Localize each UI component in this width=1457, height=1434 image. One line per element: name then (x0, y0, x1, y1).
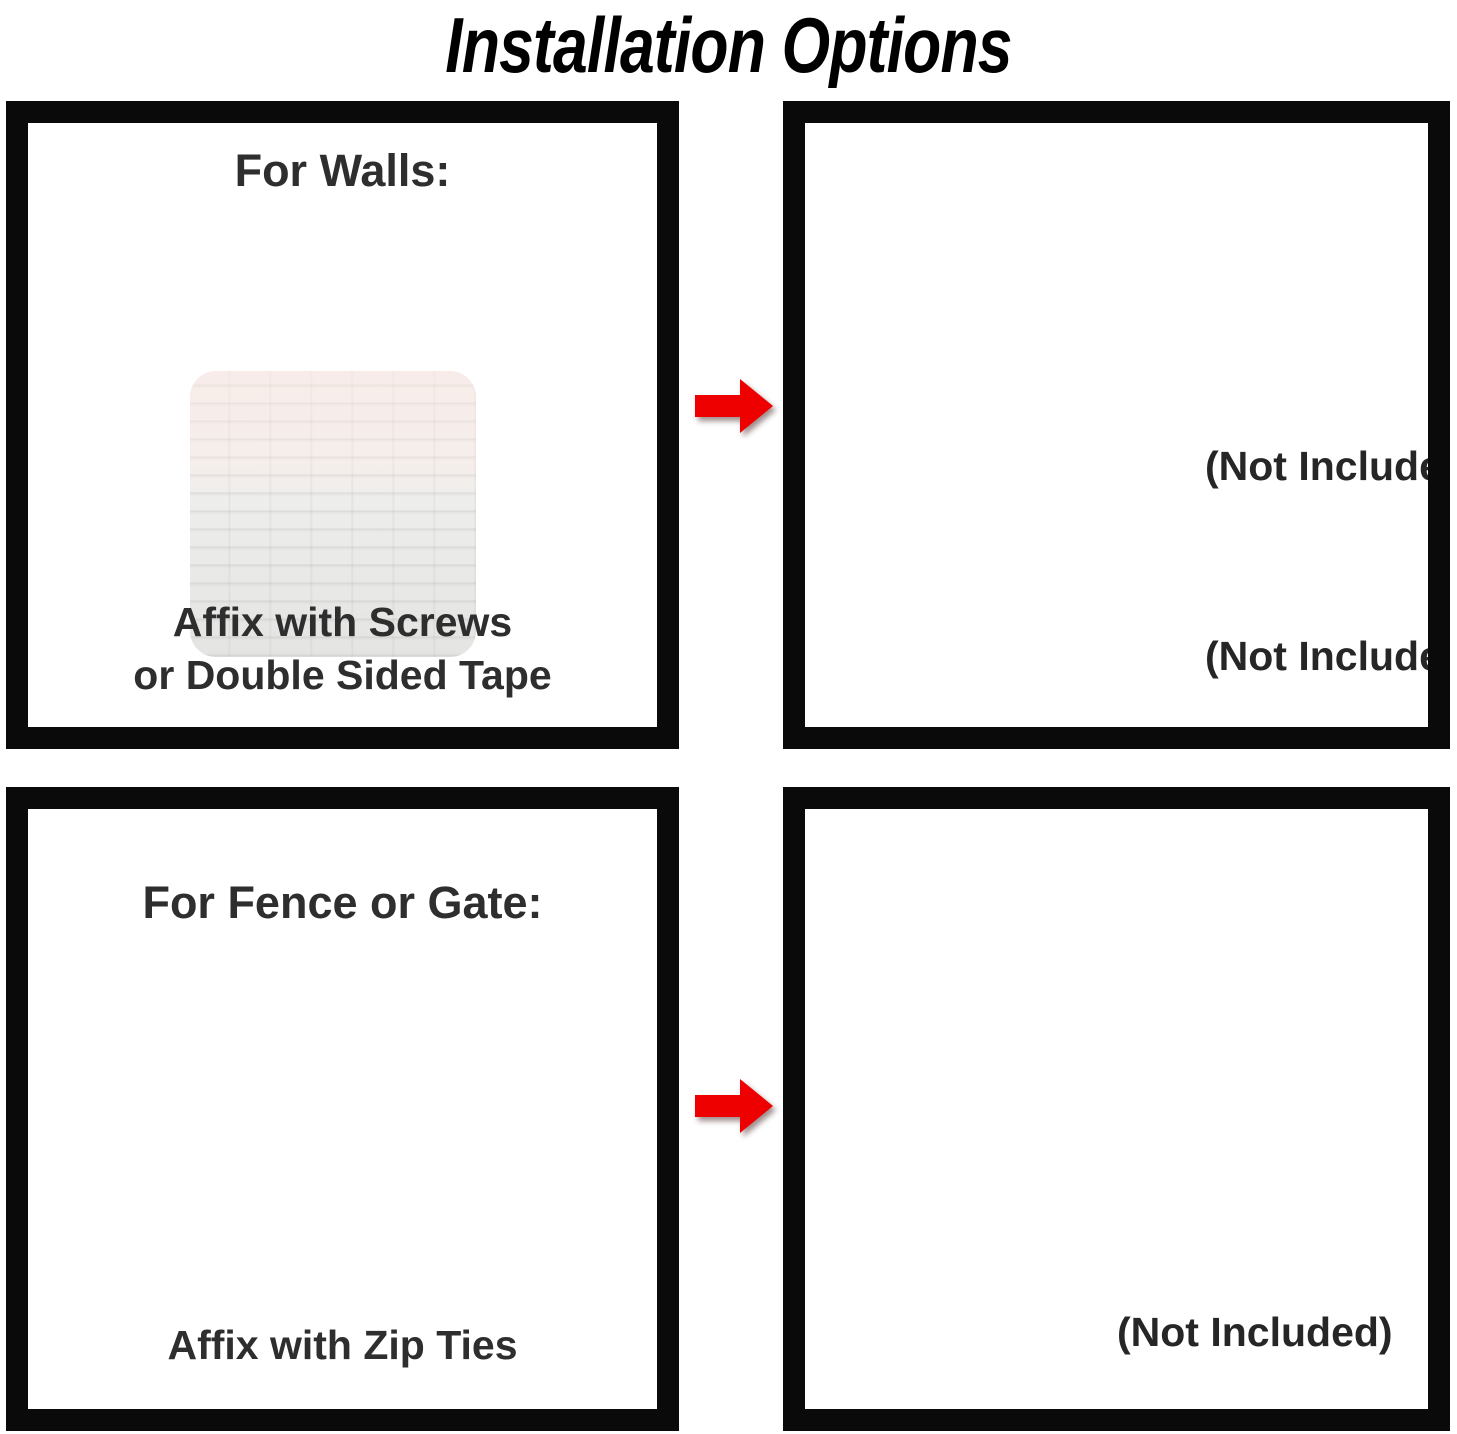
panel-fence-hardware: (Not Included) (783, 787, 1450, 1431)
for-fence-heading: For Fence or Gate: (28, 877, 657, 929)
panel-for-walls: For Walls: Affix with Screws or Double S… (6, 101, 679, 749)
page-title: Installation Options (146, 2, 1312, 89)
for-fence-caption-line-1: Affix with Zip Ties (28, 1319, 657, 1371)
arrow-right-icon (693, 375, 775, 437)
tape-not-included-label: (Not Included) (1205, 443, 1428, 490)
panel-wall-hardware: (Not Included) (783, 101, 1450, 749)
panel-for-fence-or-gate: For Fence or Gate: Affix with (6, 787, 679, 1431)
panel-for-walls-inner: For Walls: Affix with Screws or Double S… (28, 123, 657, 727)
arrow-right-icon (693, 1075, 775, 1137)
for-fence-caption: Affix with Zip Ties (28, 1319, 657, 1371)
for-walls-heading: For Walls: (28, 145, 657, 197)
zipties-not-included-label: (Not Included) (1117, 1309, 1393, 1356)
screws-not-included-label: (Not Included) (1205, 633, 1428, 680)
panel-wall-hardware-inner: (Not Included) (805, 123, 1428, 727)
for-walls-caption-line-2: or Double Sided Tape (28, 649, 657, 701)
for-walls-caption-line-1: Affix with Screws (28, 596, 657, 648)
panel-for-fence-inner: For Fence or Gate: Affix with (28, 809, 657, 1409)
panel-fence-hardware-inner: (Not Included) (805, 809, 1428, 1409)
for-walls-caption: Affix with Screws or Double Sided Tape (28, 596, 657, 701)
